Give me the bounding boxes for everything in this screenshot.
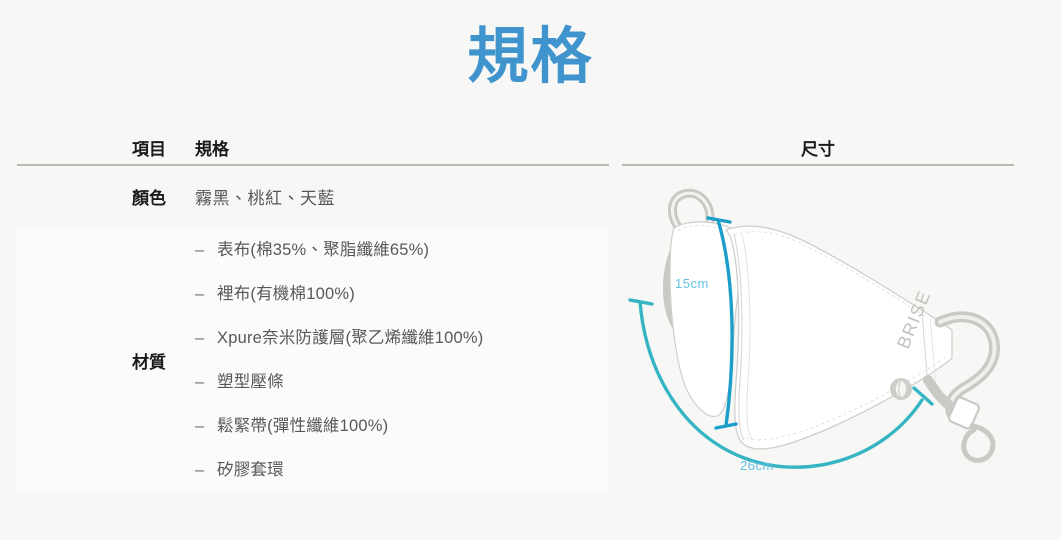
- list-item-label: 矽膠套環: [217, 461, 284, 479]
- dimensions-divider: [622, 164, 1014, 166]
- dimensions-section: 尺寸: [622, 130, 1014, 166]
- list-item-label: 裡布(有機棉100%): [217, 285, 355, 303]
- header-item: 項目: [17, 135, 195, 160]
- list-item: – 鬆緊帶(彈性纖維100%): [195, 404, 609, 448]
- table-row: 顏色 霧黑、桃紅、天藍: [17, 166, 609, 226]
- bullet-dash: –: [195, 459, 204, 481]
- bullet-dash: –: [195, 327, 204, 349]
- row-value-color: 霧黑、桃紅、天藍: [195, 184, 335, 209]
- spec-table: 項目 規格 顏色 霧黑、桃紅、天藍 材質 – 表布(棉35%、聚脂纖維65%) …: [17, 130, 609, 492]
- spec-page: 規格 項目 規格 顏色 霧黑、桃紅、天藍 材質 – 表布(棉35%、聚脂纖維65…: [0, 0, 1061, 540]
- bullet-dash: –: [195, 371, 204, 393]
- dimension-label-height: 15cm: [675, 276, 709, 291]
- spec-table-header-row: 項目 規格: [17, 130, 609, 164]
- header-dimensions: 尺寸: [801, 135, 835, 160]
- material-list: – 表布(棉35%、聚脂纖維65%) – 裡布(有機棉100%) – Xpure…: [195, 228, 609, 492]
- mask-body: [726, 226, 952, 449]
- list-item-label: Xpure奈米防護層(聚乙烯纖維100%): [217, 329, 483, 347]
- list-item: – 表布(棉35%、聚脂纖維65%): [195, 228, 609, 272]
- list-item: – 矽膠套環: [195, 448, 609, 492]
- row-label-color: 顏色: [132, 184, 195, 209]
- bullet-dash: –: [195, 283, 204, 305]
- dimensions-header-row: 尺寸: [622, 130, 1014, 164]
- header-spec: 規格: [195, 135, 609, 160]
- list-item: – 裡布(有機棉100%): [195, 272, 609, 316]
- row-label-material: 材質: [132, 348, 195, 373]
- list-item-label: 塑型壓條: [217, 373, 284, 391]
- list-item: – 塑型壓條: [195, 360, 609, 404]
- list-item-label: 表布(棉35%、聚脂纖維65%): [217, 241, 429, 259]
- dimension-label-width: 26cm: [740, 458, 774, 473]
- list-item: – Xpure奈米防護層(聚乙烯纖維100%): [195, 316, 609, 360]
- bullet-dash: –: [195, 415, 204, 437]
- table-row-material: 材質 – 表布(棉35%、聚脂纖維65%) – 裡布(有機棉100%) – Xp…: [17, 228, 609, 492]
- list-item-label: 鬆緊帶(彈性纖維100%): [217, 417, 388, 435]
- mask-illustration: BRISE: [622, 182, 1022, 502]
- brise-mark-icon: [890, 378, 912, 400]
- page-title: 規格: [0, 18, 1061, 94]
- bullet-dash: –: [195, 239, 204, 261]
